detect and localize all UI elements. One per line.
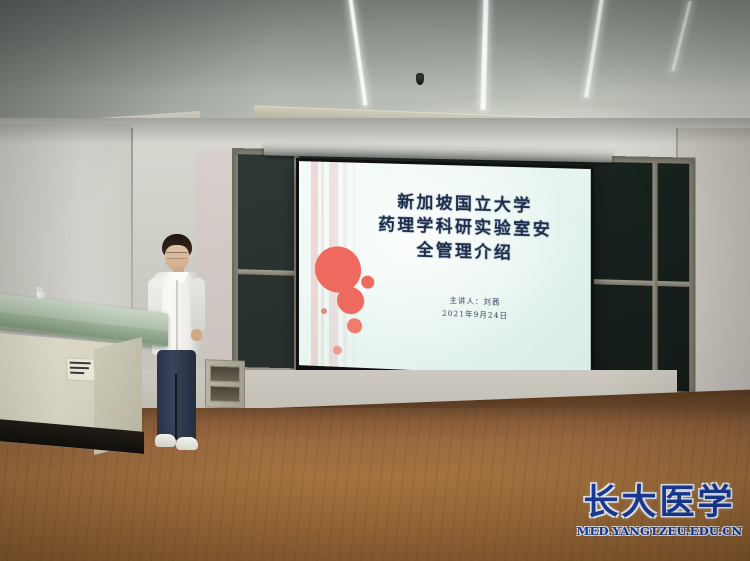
right-hand [191,329,202,341]
right-shoe [176,437,198,450]
lectern-podium [0,303,170,461]
slide-decor-circle [337,287,364,315]
shirt-placket [176,280,178,352]
sticker-line [70,367,89,370]
sticker-line [70,362,91,365]
wall-top-shadow [0,118,750,144]
sticker-line [70,372,84,374]
vent-slot [210,365,240,382]
slide-title: 新加坡国立大学 药理学科研实验室安 全管理介绍 [353,189,578,267]
slide-decor-circle [347,318,362,334]
sprinkler-head-icon [416,73,424,85]
right-arm [191,278,205,333]
projected-slide: 新加坡国立大学 药理学科研实验室安 全管理介绍 主讲人：刘茜 2021年9月24… [299,161,591,378]
slide-decor-circle [361,275,374,289]
podium-label-sticker [65,357,95,381]
slide-decor-circle [321,308,327,314]
vent-slot [210,385,240,402]
projection-screen: 新加坡国立大学 药理学科研实验室安 全管理介绍 主讲人：刘茜 2021年9月24… [296,158,594,385]
slide-decor-circle [333,346,342,355]
glasses-icon [166,252,187,259]
trouser-seam [175,374,177,440]
classroom-photo: 新加坡国立大学 药理学科研实验室安 全管理介绍 主讲人：刘茜 2021年9月24… [0,0,750,561]
